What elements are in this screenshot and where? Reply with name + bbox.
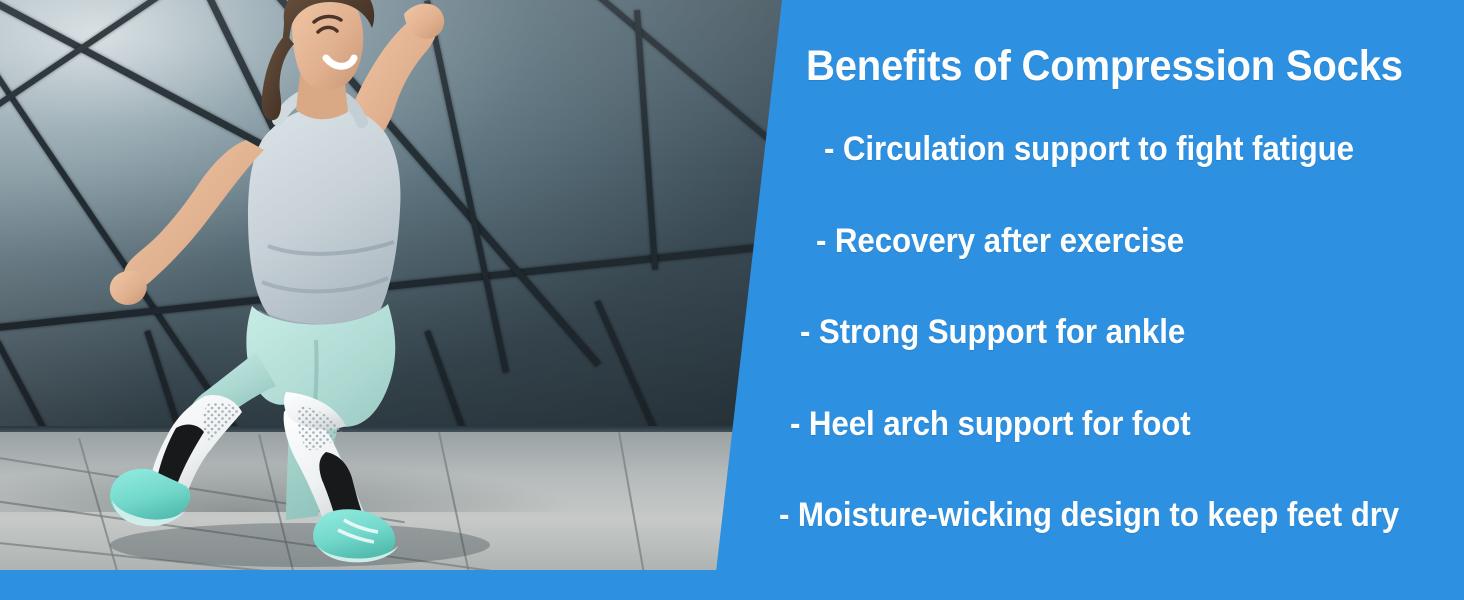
benefit-item-5: - Moisture-wicking design to keep feet d… [779, 497, 1399, 534]
bottom-accent-strip [0, 570, 1464, 600]
benefit-item-2: - Recovery after exercise [816, 223, 1184, 260]
panel-content: Benefits of Compression Socks - Circulat… [0, 0, 1464, 572]
benefit-item-4: - Heel arch support for foot [790, 406, 1191, 443]
compression-socks-banner: Benefits of Compression Socks - Circulat… [0, 0, 1464, 600]
benefit-item-1: - Circulation support to fight fatigue [824, 131, 1354, 168]
benefit-item-3: - Strong Support for ankle [800, 314, 1185, 351]
panel-title: Benefits of Compression Socks [806, 44, 1401, 90]
